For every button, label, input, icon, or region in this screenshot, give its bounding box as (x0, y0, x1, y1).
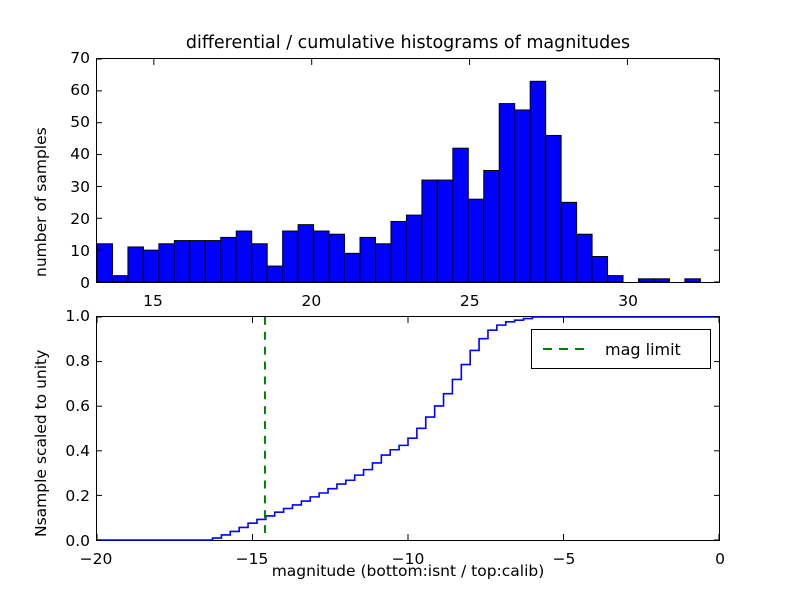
top-xtick-label: 20 (302, 292, 322, 310)
bottom-ytick-label: 1.0 (44, 307, 90, 325)
histogram-bar (499, 104, 514, 282)
top-ytick-label: 30 (50, 178, 90, 196)
histogram-bar (546, 135, 561, 282)
top-panel-ylabel: number of samples (32, 127, 50, 277)
histogram-bar (267, 266, 282, 282)
histogram-bar (329, 234, 344, 282)
histogram-bar (345, 253, 360, 282)
histogram-bar (252, 244, 267, 282)
top-xtick-label: 15 (143, 292, 163, 310)
histogram-bar (174, 241, 189, 282)
histogram-bar (608, 276, 623, 282)
differential-histogram-plot (97, 59, 719, 282)
histogram-bar (159, 244, 174, 282)
bottom-ytick-label: 0.8 (44, 352, 90, 370)
histogram-bar (298, 225, 313, 282)
top-xtick-label: 30 (618, 292, 638, 310)
histogram-bar (561, 202, 576, 282)
bottom-xtick-label: −10 (392, 550, 425, 568)
figure-canvas: differential / cumulative histograms of … (0, 0, 800, 600)
histogram-bar (468, 199, 483, 282)
histogram-bar (577, 234, 592, 282)
bottom-xtick-label: −5 (553, 550, 576, 568)
bottom-ytick-label: 0.0 (44, 532, 90, 550)
bottom-xtick-label: −15 (236, 550, 269, 568)
histogram-bar (592, 257, 607, 282)
histogram-bar (515, 110, 530, 282)
histogram-bar (638, 279, 653, 282)
bottom-ytick-label: 0.4 (44, 442, 90, 460)
legend: mag limit (531, 329, 711, 369)
histogram-bar (654, 279, 669, 282)
top-xtick-label: 25 (460, 292, 480, 310)
top-ytick-label: 0 (50, 274, 90, 292)
bottom-ytick-label: 0.2 (44, 487, 90, 505)
histogram-bar (143, 250, 158, 282)
mag-limit-legend-swatch (541, 343, 593, 355)
histogram-bar (190, 241, 205, 282)
bottom-xtick-label: 0 (715, 550, 725, 568)
top-ytick-label: 40 (50, 145, 90, 163)
histogram-bar (375, 244, 390, 282)
top-ytick-label: 60 (50, 81, 90, 99)
histogram-bar (484, 171, 499, 283)
histogram-bar (97, 244, 112, 282)
histogram-bar (221, 237, 236, 282)
histogram-bar (453, 148, 468, 282)
histogram-bar (205, 241, 220, 282)
top-ytick-label: 50 (50, 113, 90, 131)
figure-title: differential / cumulative histograms of … (96, 33, 720, 53)
histogram-bar (437, 180, 452, 282)
bottom-ytick-label: 0.6 (44, 397, 90, 415)
top-ytick-label: 70 (50, 49, 90, 67)
legend-label-mag-limit: mag limit (605, 340, 681, 359)
histogram-bar (685, 279, 700, 282)
histogram-bar (360, 237, 375, 282)
histogram-bar (128, 247, 143, 282)
differential-histogram-panel (96, 58, 720, 283)
histogram-bar (283, 231, 298, 282)
histogram-bar (112, 276, 127, 282)
top-ytick-label: 20 (50, 210, 90, 228)
histogram-bar (391, 221, 406, 282)
histogram-bar (314, 231, 329, 282)
histogram-bar (406, 215, 421, 282)
histogram-bar (530, 81, 545, 282)
bottom-xtick-label: −20 (80, 550, 113, 568)
histogram-bar (236, 231, 251, 282)
top-ytick-label: 10 (50, 242, 90, 260)
histogram-bar (422, 180, 437, 282)
